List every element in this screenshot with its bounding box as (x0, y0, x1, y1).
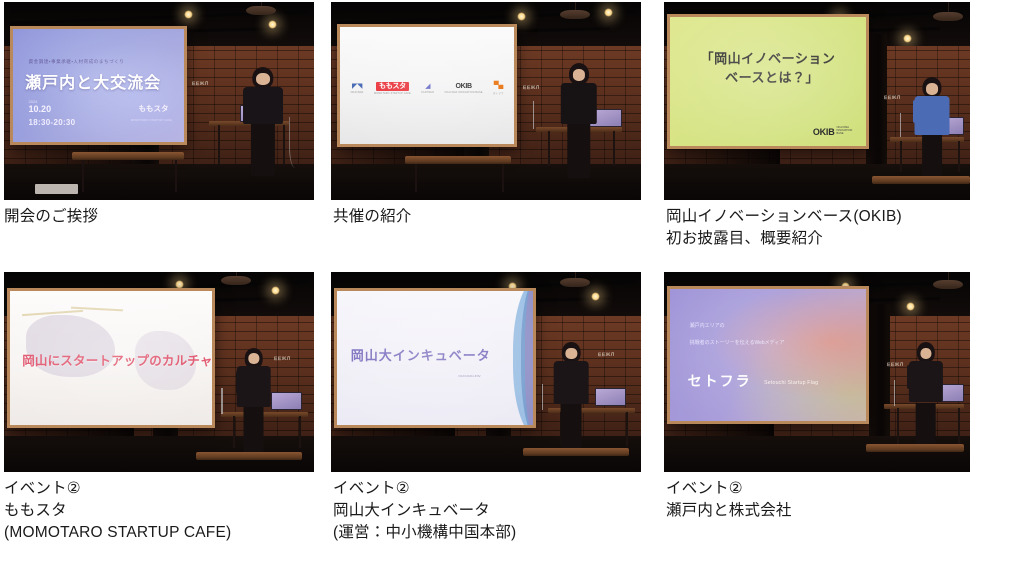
table-leg (502, 164, 505, 192)
speaker-person (557, 63, 600, 178)
slide-line-1: 瀬戸内エリアの (690, 322, 725, 329)
mic-stand (542, 384, 544, 410)
slide-background: 岡山にスタートアップのカルチャーを (10, 291, 212, 425)
side-table (866, 444, 964, 452)
okib-logo-mark: OKIB (813, 127, 835, 137)
wall-sign: ЕЕЖЛ (523, 85, 540, 91)
slide-title: セトフラ (688, 371, 752, 391)
slide-time: 18:30-20:30 (29, 118, 76, 127)
slide-title: 岡山大インキュベータ (351, 345, 491, 364)
side-table (72, 152, 184, 160)
spotlight-icon (268, 20, 277, 29)
slide-line-2: 挑戦者のストーリーを伝えるWebメディア (690, 339, 785, 346)
screen-surface: ◤◥ OKAYAMA ももスタ MOMOTARO STARTUP CAFE ◢ … (340, 27, 514, 144)
screen-surface: 「岡山イノベーション ベースとは？」 OKIB OKAYAMA INNOVATI… (670, 17, 866, 146)
spotlight-icon (906, 302, 915, 311)
projection-screen-3: 「岡山イノベーション ベースとは？」 OKIB OKAYAMA INNOVATI… (667, 14, 869, 149)
slide-title: 岡山にスタートアップのカルチャーを (22, 350, 212, 369)
photo-cell-3: 「岡山イノベーション ベースとは？」 OKIB OKAYAMA INNOVATI… (664, 2, 970, 200)
sponsor-logo: ◤◥ OKAYAMA (351, 83, 364, 95)
partner-logo-5-mark: ▀▄ (494, 82, 503, 89)
podium-leg (958, 408, 960, 444)
speaker-arm (913, 100, 923, 123)
table-leg (82, 160, 85, 192)
podium-leg (626, 412, 628, 446)
slide-background: 瀬戸内エリアの 挑戦者のストーリーを伝えるWebメディア セトフラ Setouc… (670, 289, 866, 421)
event-photo-6: 瀬戸内エリアの 挑戦者のストーリーを伝えるWebメディア セトフラ Setouc… (664, 272, 970, 472)
photo-caption-4: イベント② ももスタ (MOMOTARO STARTUP CAFE) (4, 478, 324, 544)
slide-background: 岡山大インキュベータ OKAYAMA UNIV. (337, 291, 533, 425)
projection-screen-2: ◤◥ OKAYAMA ももスタ MOMOTARO STARTUP CAFE ◢ … (337, 24, 517, 147)
wave-band (525, 291, 533, 425)
photo-grid-sheet: 資金調達・事業承継・人材育成のまちづくり 瀬戸内と大交流会 2024 10.20… (0, 0, 1024, 576)
partner-logo-3-caption: PARTNER (421, 91, 434, 94)
speaker-person (912, 77, 952, 180)
photo-cell-4: 岡山にスタートアップのカルチャーを ЕЕЖЛ (4, 272, 314, 472)
photo-caption-2: 共催の紹介 (333, 206, 653, 228)
okib-logo-mark: OKIB (455, 83, 471, 90)
laptop (595, 388, 626, 406)
podium-leg (900, 141, 902, 173)
laptop (271, 392, 302, 410)
slide-logo: ももスタ (139, 103, 169, 114)
slide-year: 2024 (29, 99, 38, 104)
speaker-face (256, 73, 270, 85)
screen-surface: 瀬戸内エリアの 挑戦者のストーリーを伝えるWebメディア セトフラ Setouc… (670, 289, 866, 421)
spotlight-icon (604, 8, 613, 17)
side-table (523, 448, 628, 456)
podium-leg (613, 131, 615, 167)
event-photo-1: 資金調達・事業承継・人材育成のまちづくり 瀬戸内と大交流会 2024 10.20… (4, 2, 314, 200)
pendant-lamp-icon (933, 280, 963, 289)
photo-caption-1: 開会のご挨拶 (4, 206, 324, 228)
photo-cell-6: 瀬戸内エリアの 挑戦者のストーリーを伝えるWebメディア セトフラ Setouc… (664, 272, 970, 472)
okib-logo: OKIB OKAYAMA INNOVATION BASE (813, 126, 852, 137)
speaker-arm (236, 371, 246, 395)
speaker-face (248, 353, 259, 364)
momosta-logo-mark: ももスタ (376, 82, 409, 91)
sponsor-logo: ▀▄ セトフラ (493, 82, 503, 95)
screen-surface: 岡山にスタートアップのカルチャーを (10, 291, 212, 425)
slide-title-en: Setouchi Startup Flag (764, 380, 818, 386)
projection-screen-1: 資金調達・事業承継・人材育成のまちづくり 瀬戸内と大交流会 2024 10.20… (10, 26, 187, 145)
slide-kicker: 資金調達・事業承継・人材育成のまちづくり (29, 59, 125, 65)
spotlight-icon (184, 10, 193, 19)
screen-surface: 岡山大インキュベータ OKAYAMA UNIV. (337, 291, 533, 425)
photo-cell-2: ◤◥ OKAYAMA ももスタ MOMOTARO STARTUP CAFE ◢ … (331, 2, 641, 200)
podium-leg (958, 141, 960, 173)
speaker-person (551, 342, 591, 454)
speaker-person (906, 342, 946, 452)
event-photo-3: 「岡山イノベーション ベースとは？」 OKIB OKAYAMA INNOVATI… (664, 2, 970, 200)
side-table (872, 176, 970, 184)
speaker-arm (907, 365, 917, 389)
spotlight-icon (271, 286, 280, 295)
slide-text-block: 「岡山イノベーション ベースとは？」 (670, 50, 866, 88)
mic-stand (900, 113, 902, 137)
pendant-lamp-icon (933, 12, 963, 21)
sponsor-logo: OKIB OKAYAMA INNOVATION BASE (445, 83, 483, 95)
speaker-face (920, 348, 931, 359)
mic-stand (221, 388, 223, 414)
projection-screen-6: 瀬戸内エリアの 挑戦者のストーリーを伝えるWebメディア セトフラ Setouc… (667, 286, 869, 424)
wall-sign: ЕЕЖЛ (887, 362, 904, 368)
momosta-logo-caption: MOMOTARO STARTUP CAFE (374, 92, 411, 95)
mic-stand (894, 380, 896, 406)
pendant-lamp-icon (560, 278, 590, 287)
speaker-legs (251, 124, 275, 176)
speaker-legs (567, 124, 590, 178)
slide-background: 資金調達・事業承継・人材育成のまちづくり 瀬戸内と大交流会 2024 10.20… (13, 29, 184, 142)
speaker-legs (561, 404, 582, 454)
speaker-arm (562, 89, 572, 112)
projection-screen-4: 岡山にスタートアップのカルチャーを (7, 288, 215, 428)
speaker-legs (922, 135, 942, 180)
speaker-arm (554, 366, 564, 391)
photo-caption-3: 岡山イノベーションベース(OKIB) 初お披露目、概要紹介 (666, 206, 1016, 250)
table-leg (415, 164, 418, 192)
pendant-lamp-icon (246, 6, 276, 15)
projector (35, 184, 78, 194)
photo-caption-6: イベント② 瀬戸内と株式会社 (666, 478, 1016, 522)
slide-title: 瀬戸内と大交流会 (25, 69, 161, 93)
side-table (405, 156, 510, 164)
wall-sign: ЕЕЖЛ (274, 356, 291, 362)
speaker-person (233, 348, 273, 456)
okib-logo-caption: OKAYAMA INNOVATION BASE (445, 91, 483, 94)
projection-screen-5: 岡山大インキュベータ OKAYAMA UNIV. (334, 288, 536, 428)
event-photo-2: ◤◥ OKAYAMA ももスタ MOMOTARO STARTUP CAFE ◢ … (331, 2, 641, 200)
speaker-face (926, 83, 938, 94)
spotlight-icon (517, 12, 526, 21)
photo-cell-5: 岡山大インキュベータ OKAYAMA UNIV. ЕЕЖЛ (331, 272, 641, 472)
podium-leg (897, 408, 899, 444)
okib-logo-sub: OKAYAMA INNOVATION BASE (837, 126, 853, 137)
event-photo-4: 岡山にスタートアップのカルチャーを ЕЕЖЛ (4, 272, 314, 472)
screen-surface: 資金調達・事業承継・人材育成のまちづくり 瀬戸内と大交流会 2024 10.20… (13, 29, 184, 142)
sponsor-logo: ももスタ MOMOTARO STARTUP CAFE (374, 82, 411, 96)
pendant-lamp-icon (221, 276, 251, 285)
speaker-legs (243, 407, 264, 456)
slide-line-2: ベースとは？」 (678, 69, 866, 88)
sponsor-logo: ◢ PARTNER (421, 83, 434, 95)
slide-background: 「岡山イノベーション ベースとは？」 OKIB OKAYAMA INNOVATI… (670, 17, 866, 146)
photo-cell-1: 資金調達・事業承継・人材育成のまちづくり 瀬戸内と大交流会 2024 10.20… (4, 2, 314, 200)
pendant-lamp-icon (560, 10, 590, 19)
table-leg (175, 160, 178, 192)
partner-logo-5-caption: セトフラ (493, 91, 503, 95)
slide-subtitle: OKAYAMA UNIV. (458, 374, 481, 378)
podium-leg (548, 131, 550, 167)
slide-date: 10.20 (29, 104, 52, 114)
partner-logo-1-caption: OKAYAMA (351, 91, 364, 94)
wall-sign: ЕЕЖЛ (884, 95, 901, 101)
wall-sign: ЕЕЖЛ (598, 352, 615, 358)
podium-leg (218, 125, 220, 165)
side-table (196, 452, 301, 460)
partner-logo-1-mark: ◤◥ (352, 83, 362, 90)
spotlight-icon (903, 34, 912, 43)
photo-caption-5: イベント② 岡山大インキュベータ (運営：中小機構中国本部) (333, 478, 653, 544)
slide-background: ◤◥ OKAYAMA ももスタ MOMOTARO STARTUP CAFE ◢ … (340, 27, 514, 144)
event-photo-5: 岡山大インキュベータ OKAYAMA UNIV. ЕЕЖЛ (331, 272, 641, 472)
mic-stand (533, 101, 535, 129)
speaker-torso (243, 87, 283, 124)
wall-sign: ЕЕЖЛ (191, 81, 208, 87)
sponsor-logo-row: ◤◥ OKAYAMA ももスタ MOMOTARO STARTUP CAFE ◢ … (351, 82, 504, 96)
partner-logo-3-mark: ◢ (425, 83, 430, 90)
speaker-person (240, 67, 287, 176)
podium-leg (299, 416, 301, 448)
slide-logo-sub: MOMOTARO STARTUP CAFE (131, 118, 172, 122)
slide-line-1: 「岡山イノベーション (670, 50, 866, 69)
cable (289, 117, 305, 168)
